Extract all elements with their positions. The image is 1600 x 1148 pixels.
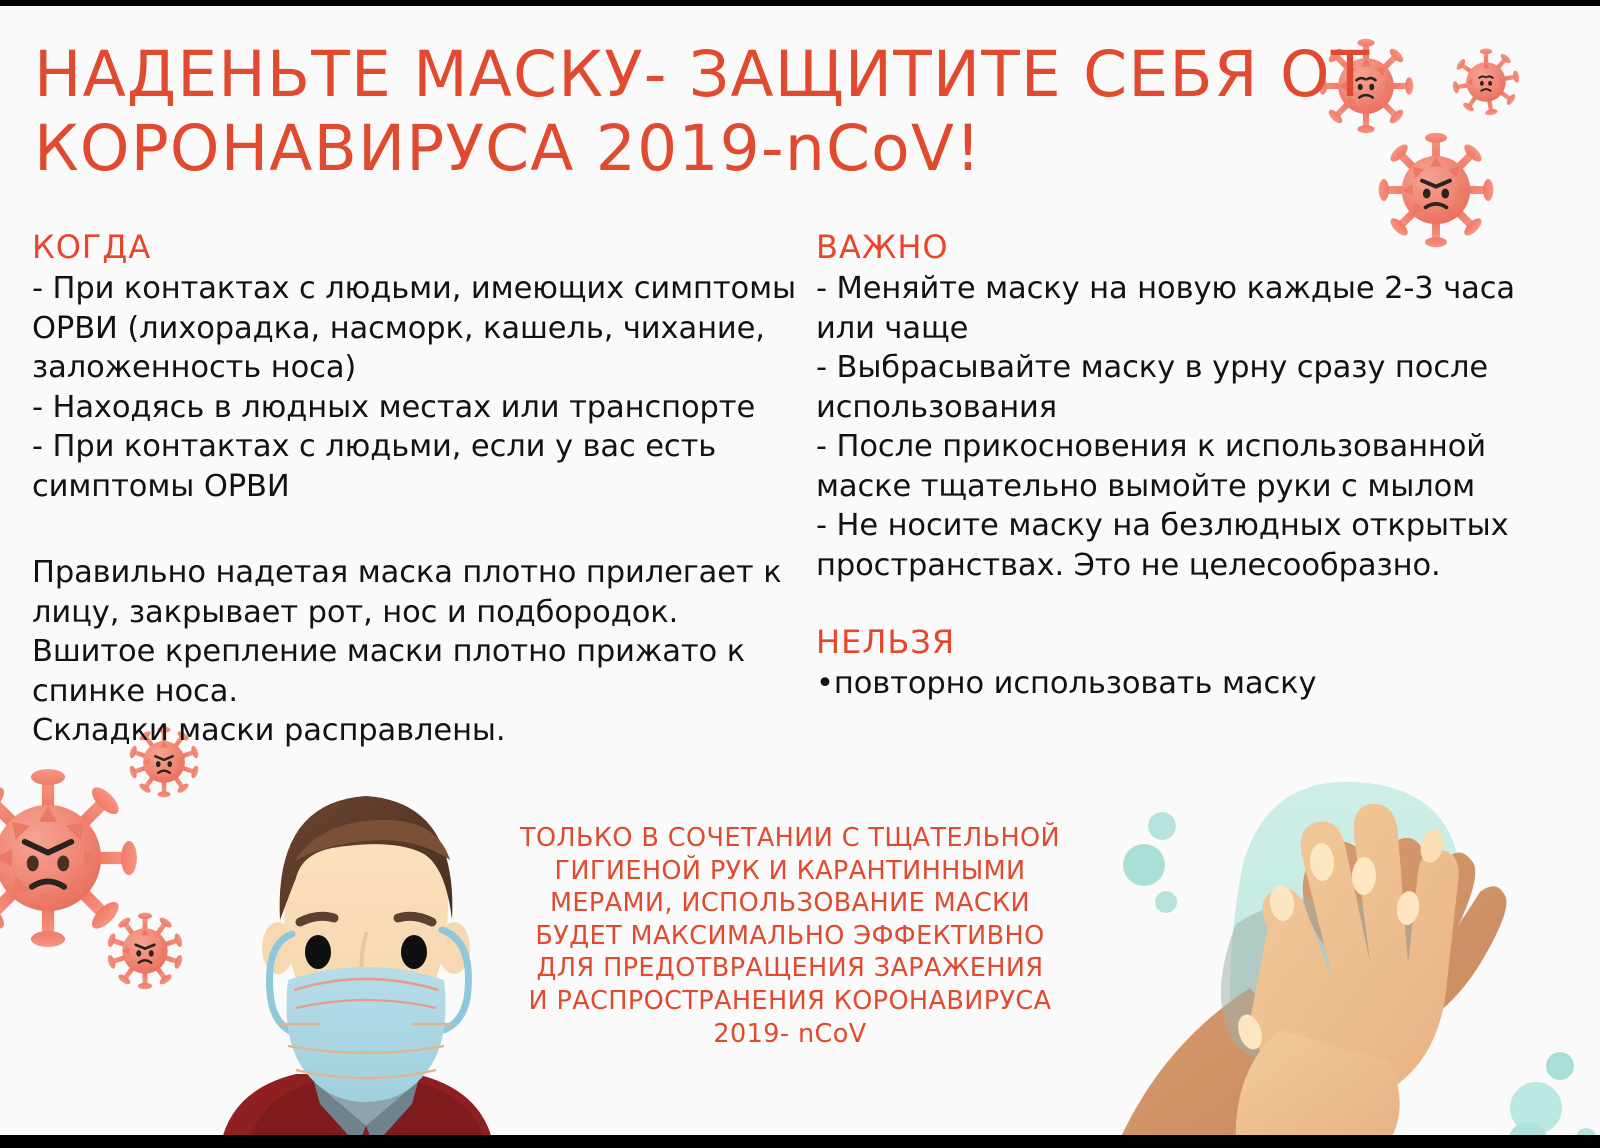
nelzya-line-1: •повторно использовать маску [816,664,1516,704]
kogda-line-5: - При контактах с людьми, если у вас ест… [32,427,792,467]
vazhno-line-6: маске тщательно вымойте руки с мылом [816,467,1516,507]
section-heading-vazhno: ВАЖНО [816,228,1516,266]
letterbox-bar-bottom [0,1135,1600,1148]
right-column-spacer [816,585,1516,623]
left-column: КОГДА - При контактах с людьми, имеющих … [32,228,792,751]
bubble [1123,844,1165,886]
coronavirus-icon-bottom-lower [106,912,184,990]
title-line-1: НАДЕНЬТЕ МАСКУ- ЗАЩИТИТЕ СЕБЯ ОТ [34,38,1324,112]
poster-canvas: НАДЕНЬТЕ МАСКУ- ЗАЩИТИТЕ СЕБЯ ОТ КОРОНАВ… [0,0,1600,1148]
kogda-line-1: - При контактах с людьми, имеющих симпто… [32,269,792,309]
section-heading-kogda: КОГДА [32,228,792,266]
caption-line-6: И РАСПРОСТРАНЕНИЯ КОРОНАВИРУСА [498,985,1082,1018]
vazhno-line-8: пространствах. Это не целесообразно. [816,546,1516,586]
kogda-line-2: ОРВИ (лихорадка, насморк, кашель, чихани… [32,309,792,349]
coronavirus-icon-top-right [1452,48,1520,116]
vazhno-list: - Меняйте маску на новую каждые 2-3 часа… [816,269,1516,585]
bubble [1155,891,1177,913]
vazhno-line-3: - Выбрасывайте маску в урну сразу после [816,348,1516,388]
caption-line-3: МЕРАМИ, ИСПОЛЬЗОВАНИЕ МАСКИ [498,887,1082,920]
nelzya-list: •повторно использовать маску [816,664,1516,704]
right-column: ВАЖНО - Меняйте маску на новую каждые 2-… [816,228,1516,704]
vazhno-line-7: - Не носите маску на безлюдных открытых [816,506,1516,546]
poster-title: НАДЕНЬТЕ МАСКУ- ЗАЩИТИТЕ СЕБЯ ОТ КОРОНАВ… [34,38,1324,186]
kogda-list: - При контактах с людьми, имеющих симпто… [32,269,792,506]
caption-line-7: 2019- nCoV [498,1018,1082,1051]
left-column-spacer [32,506,792,553]
letterbox-bar-top [0,0,1600,6]
mask-fit-line-1: Правильно надетая маска плотно прилегает… [32,553,792,593]
bubble [1148,812,1176,840]
caption-line-1: ТОЛЬКО В СОЧЕТАНИИ С ТЩАТЕЛЬНОЙ [498,822,1082,855]
washing-hands-illustration [1086,740,1600,1148]
kogda-line-4: - Находясь в людных местах или транспорт… [32,388,792,428]
mask-fit-line-4: спинке носа. [32,672,792,712]
mask-fit-paragraph: Правильно надетая маска плотно прилегает… [32,553,792,751]
mask-fit-line-3: Вшитое крепление маски плотно прижато к [32,632,792,672]
vazhno-line-4: использования [816,388,1516,428]
mask-fit-line-2: лицу, закрывает рот, нос и подбородок. [32,593,792,633]
kogda-line-6: симптомы ОРВИ [32,467,792,507]
kogda-line-3: заложенность носа) [32,348,792,388]
mask-fit-line-5: Складки маски расправлены. [32,711,792,751]
vazhno-line-5: - После прикосновения к использованной [816,427,1516,467]
bottom-caption: ТОЛЬКО В СОЧЕТАНИИ С ТЩАТЕЛЬНОЙ ГИГИЕНОЙ… [498,822,1082,1050]
vazhno-line-1: - Меняйте маску на новую каждые 2-3 часа [816,269,1516,309]
bubble [1546,1052,1574,1080]
boy-wearing-mask-illustration [196,752,536,1148]
vazhno-line-2: или чаще [816,309,1516,349]
caption-line-4: БУДЕТ МАКСИМАЛЬНО ЭФФЕКТИВНО [498,920,1082,953]
title-line-2: КОРОНАВИРУСА 2019-nCoV! [34,112,1324,186]
caption-line-5: ДЛЯ ПРЕДОТВРАЩЕНИЯ ЗАРАЖЕНИЯ [498,952,1082,985]
section-heading-nelzya: НЕЛЬЗЯ [816,623,1516,661]
caption-line-2: ГИГИЕНОЙ РУК И КАРАНТИННЫМИ [498,855,1082,888]
